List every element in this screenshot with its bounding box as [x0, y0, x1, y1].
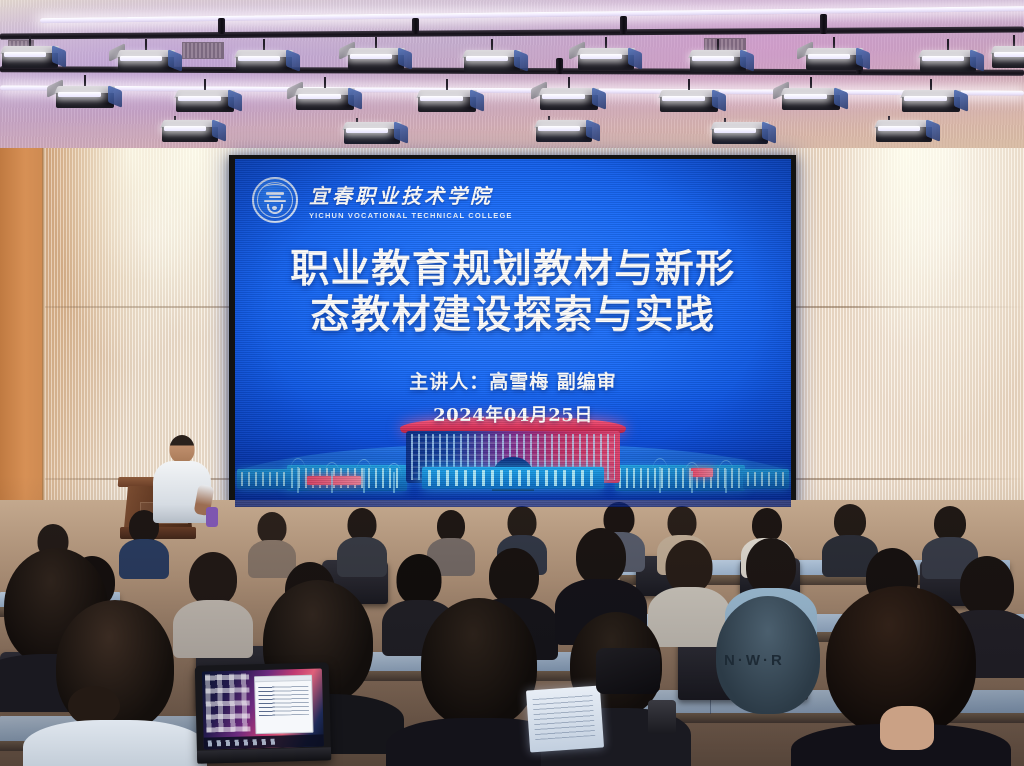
campus-tree	[393, 472, 395, 493]
desktop-icons[interactable]	[205, 673, 251, 732]
truss-drop	[412, 18, 419, 34]
campus-main-building	[398, 417, 628, 491]
campus-tree	[331, 471, 333, 493]
bag	[596, 648, 660, 694]
audience-hand	[880, 706, 934, 750]
slide-title-line1: 职业教育规划教材与新形	[235, 247, 791, 293]
clothing-text: N·W·R	[724, 652, 782, 672]
audience-person	[340, 508, 384, 566]
campus-wing-far-left	[237, 469, 291, 489]
college-name-en: YICHUN VOCATIONAL TECHNICAL COLLEGE	[309, 211, 513, 220]
presenter-person	[150, 435, 214, 520]
audience-person	[250, 512, 294, 568]
laptop	[195, 662, 332, 763]
truss-drop	[218, 18, 225, 34]
slide-date: 2024年04月25日	[235, 401, 791, 427]
audience-person-foreground	[40, 600, 190, 766]
laptop-screen	[202, 668, 324, 749]
tablet-screen[interactable]	[526, 685, 604, 752]
truss-drop	[556, 58, 563, 74]
slide-presenter: 主讲人：高雪梅 副编审	[235, 367, 791, 394]
ceiling-vent	[182, 42, 224, 59]
campus-tree	[659, 467, 661, 493]
led-screen: 宜春职业技术学院 YICHUN VOCATIONAL TECHNICAL COL…	[229, 155, 796, 511]
campus-tree	[363, 468, 365, 493]
college-name-cn: 宜春职业技术学院	[309, 180, 513, 209]
document-window[interactable]	[254, 675, 313, 734]
slide-title: 职业教育规划教材与新形 态教材建设探索与实践	[235, 247, 791, 339]
audience-person	[566, 528, 636, 624]
spotlight-wash-right	[824, 148, 1024, 448]
campus-tree	[297, 467, 299, 493]
presentation-slide: 宜春职业技术学院 YICHUN VOCATIONAL TECHNICAL COL…	[235, 159, 791, 507]
truss-drop	[820, 14, 827, 34]
ceiling	[0, 0, 1024, 150]
college-emblem-icon	[252, 177, 298, 223]
campus-tree	[691, 471, 693, 493]
photo-scene: 宜春职业技术学院 YICHUN VOCATIONAL TECHNICAL COL…	[0, 0, 1024, 766]
campus-wing-far-right	[743, 469, 789, 489]
truss-drop	[620, 16, 627, 34]
slide-header: 宜春职业技术学院 YICHUN VOCATIONAL TECHNICAL COL…	[252, 177, 513, 223]
water-bottle	[648, 700, 676, 734]
campus-sign	[307, 476, 361, 485]
campus-tree	[725, 469, 727, 493]
slide-title-line2: 态教材建设探索与实践	[235, 293, 791, 339]
